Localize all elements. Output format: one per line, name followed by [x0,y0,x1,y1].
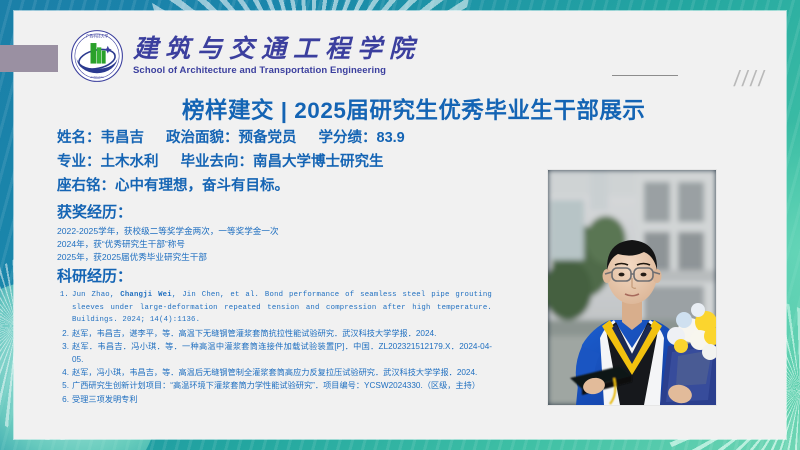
destination-label: 毕业去向： [181,154,254,170]
awards-heading: 获奖经历： [57,203,279,222]
school-name-en: School of Architecture and Transportatio… [133,65,421,76]
motto-label: 座右铭： [57,178,115,194]
name-label: 姓名： [57,130,101,146]
ref-text: 赵军，韦昌吉，谌李平，等．高温下无缝钢管灌浆套筒抗拉性能试验研究．武汉科技大学学… [72,329,436,338]
list-item: 3.赵军．韦昌吉．冯小琪．等．一种高温中灌浆套筒连接件加载试验装置[P]．中国．… [57,341,492,366]
header-divider-line [612,75,678,76]
research-heading: 科研经历： [57,267,492,286]
school-name-cn: 建筑与交通工程学院 [133,36,421,64]
item-number: 4. [57,367,69,379]
list-item: 1.Jun Zhao, Changji Wei, Jin Chen, et al… [57,289,492,327]
school-logo-block: 广西科技大学 Architecture 建筑与交通工程学院 School of … [70,29,421,83]
list-item: 2.赵军，韦昌吉，谌李平，等．高温下无缝钢管灌浆套筒抗拉性能试验研究．武汉科技大… [57,328,492,340]
page-title: 榜样建交 | 2025届研究生优秀毕业生干部展示 [182,93,645,125]
awards-item: 2025年，获2025届优秀毕业研究生干部 [57,251,279,264]
list-item: 6.受理三项发明专利 [57,394,492,406]
content-card: 广西科技大学 Architecture 建筑与交通工程学院 School of … [14,11,786,439]
awards-section: 获奖经历： 2022-2025学年，获校级二等奖学金两次，一等奖学金一次 202… [57,203,279,264]
major-label: 专业： [57,154,101,170]
profile-info-block: 姓名：韦昌吉政治面貌：预备党员学分绩：83.9 专业：土木水利毕业去向：南昌大学… [57,126,405,198]
graduate-portrait-photo [547,169,717,406]
list-item: 5.广西研究生创新计划项目：“高温环境下灌浆套筒力学性能试验研究”．项目编号：Y… [57,380,492,392]
gpa-value: 83.9 [377,130,405,146]
item-number: 6. [57,394,69,406]
political-value: 预备党员 [239,130,297,146]
ref-text: 赵军．韦昌吉．冯小琪．等．一种高温中灌浆套筒连接件加载试验装置[P]．中国．ZL… [72,342,492,363]
svg-text:广西科技大学: 广西科技大学 [86,34,109,39]
list-item: 4.赵军，冯小琪，韦昌吉，等．高温后无缝钢管制全灌浆套筒高应力反复拉压试验研究．… [57,367,492,379]
ref-text: 赵军，冯小琪，韦昌吉，等．高温后无缝钢管制全灌浆套筒高应力反复拉压试验研究．武汉… [72,368,477,377]
ref-pre: Jun Zhao, [72,291,120,299]
research-section: 科研经历： 1.Jun Zhao, Changji Wei, Jin Chen,… [57,267,492,407]
motto-value: 心中有理想，奋斗有目标。 [115,178,289,194]
profile-line-motto: 座右铭：心中有理想，奋斗有目标。 [57,174,405,198]
svg-text:Architecture: Architecture [90,76,104,79]
ref-text: 受理三项发明专利 [72,395,138,404]
name-value: 韦昌吉 [101,130,145,146]
research-list: 1.Jun Zhao, Changji Wei, Jin Chen, et al… [57,289,492,406]
item-number: 5. [57,380,69,392]
awards-item: 2024年，获“优秀研究生干部”称号 [57,238,279,251]
ref-text: 广西研究生创新计划项目：“高温环境下灌浆套筒力学性能试验研究”．项目编号：YCS… [72,381,480,390]
major-value: 土木水利 [101,154,159,170]
political-label: 政治面貌： [166,130,239,146]
item-number: 2. [57,328,69,340]
mauve-accent-tab [0,45,58,72]
profile-line-name: 姓名：韦昌吉政治面貌：预备党员学分绩：83.9 [57,126,405,150]
item-number: 3. [57,341,69,353]
profile-line-major: 专业：土木水利毕业去向：南昌大学博士研究生 [57,150,405,174]
slash-decoration: //// [733,66,768,92]
destination-value: 南昌大学博士研究生 [253,154,384,170]
university-emblem-icon: 广西科技大学 Architecture [70,29,124,83]
gpa-label: 学分绩： [319,130,377,146]
item-number: 1. [57,289,69,302]
poster-slide: 广西科技大学 Architecture 建筑与交通工程学院 School of … [0,0,800,450]
awards-item: 2022-2025学年，获校级二等奖学金两次，一等奖学金一次 [57,225,279,238]
ref-author-highlight: Changji Wei [120,291,172,299]
